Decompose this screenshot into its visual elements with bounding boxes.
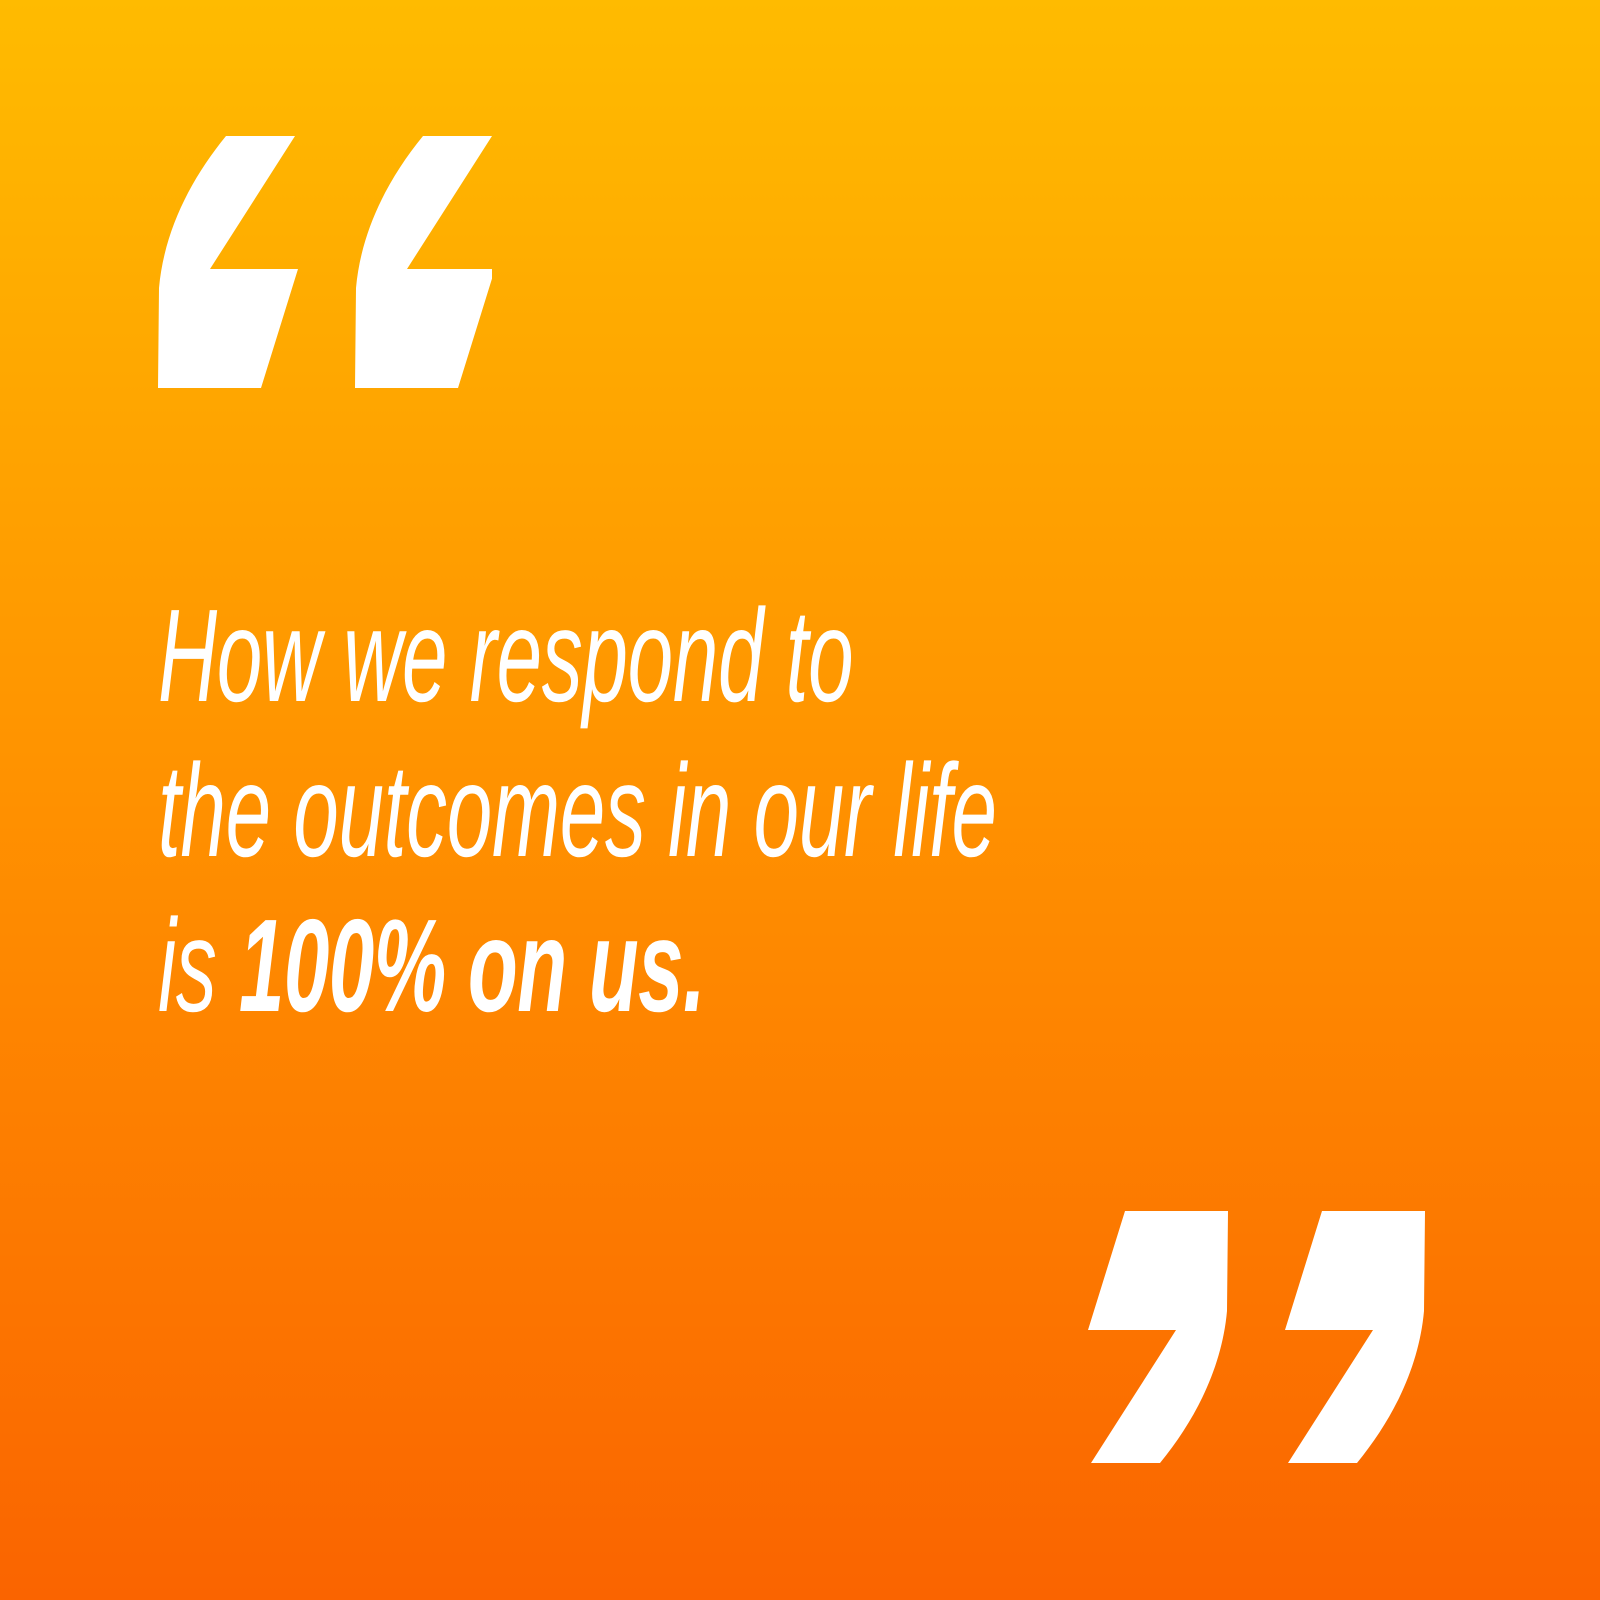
quote-line-3: is 100% on us. bbox=[158, 888, 1488, 1043]
quote-line-3-emphasis: 100% on us. bbox=[239, 892, 705, 1039]
open-quote-icon bbox=[158, 136, 492, 388]
quote-card: How we respond to the outcomes in our li… bbox=[0, 0, 1600, 1600]
quote-line-3-normal: is bbox=[158, 892, 239, 1039]
quote-line-2: the outcomes in our life bbox=[158, 733, 1488, 888]
close-quote-icon bbox=[1075, 1211, 1441, 1463]
quote-line-1: How we respond to bbox=[158, 578, 1488, 733]
quote-text-block: How we respond to the outcomes in our li… bbox=[158, 578, 1488, 1043]
